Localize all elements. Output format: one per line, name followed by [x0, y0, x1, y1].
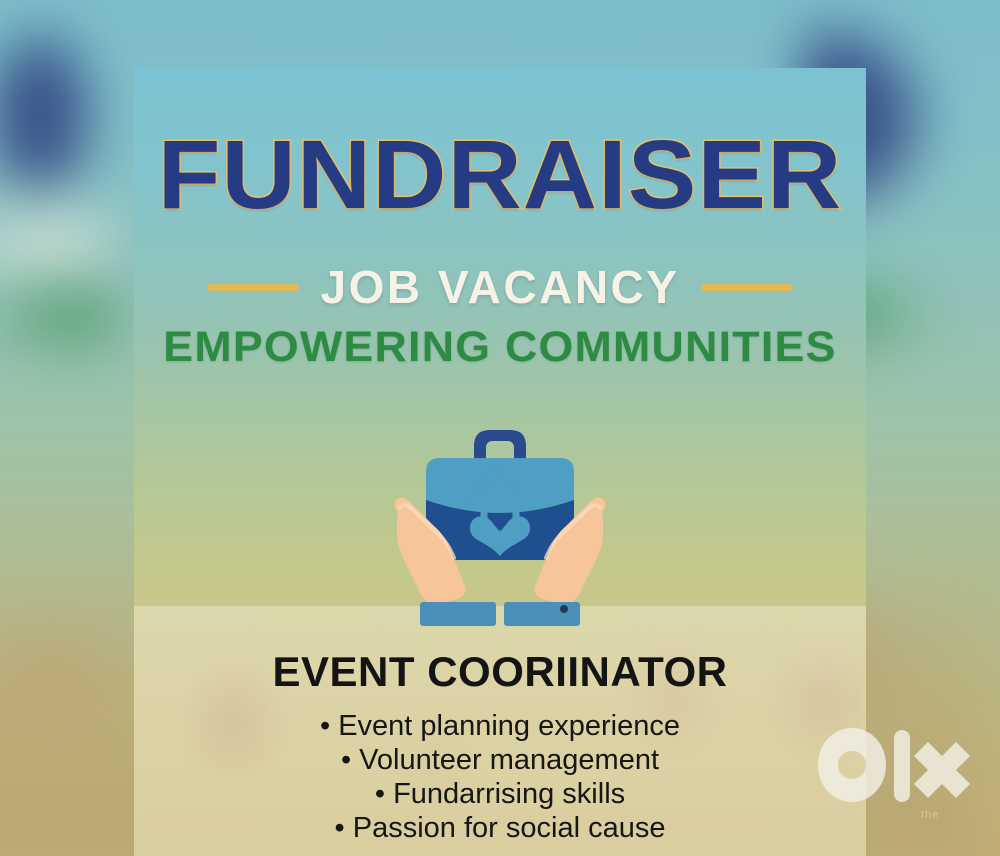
- list-item: • Passion for social cause: [134, 812, 866, 846]
- tagline: EMPOWERING COMMUNITIES: [134, 323, 866, 372]
- list-item: • Event planning experience: [134, 710, 866, 744]
- background-blur-green-left: [0, 270, 120, 360]
- gold-dash-left-icon: [207, 284, 299, 291]
- job-vacancy-label: JOB VACANCY: [321, 260, 680, 314]
- svg-text:the: the: [921, 809, 939, 821]
- gold-dash-right-icon: [701, 284, 793, 291]
- list-item: • Volunteer management: [134, 744, 866, 778]
- poster-card: FUNDRAISER JOB VACANCY EMPOWERING COMMUN…: [134, 68, 866, 856]
- olx-watermark: the: [808, 718, 978, 828]
- job-vacancy-row: JOB VACANCY: [134, 260, 866, 314]
- list-item: • Fundarrising skills: [134, 778, 866, 812]
- page-title: FUNDRAISER: [134, 126, 866, 223]
- background-blur-letter-left: [0, 20, 100, 210]
- role-title: EVENT COORIINATOR: [134, 648, 866, 696]
- screenshot-root: FUNDRAISER JOB VACANCY EMPOWERING COMMUN…: [0, 0, 1000, 856]
- requirements-list: • Event planning experience • Volunteer …: [134, 710, 866, 846]
- briefcase-in-hands-icon: [390, 408, 610, 633]
